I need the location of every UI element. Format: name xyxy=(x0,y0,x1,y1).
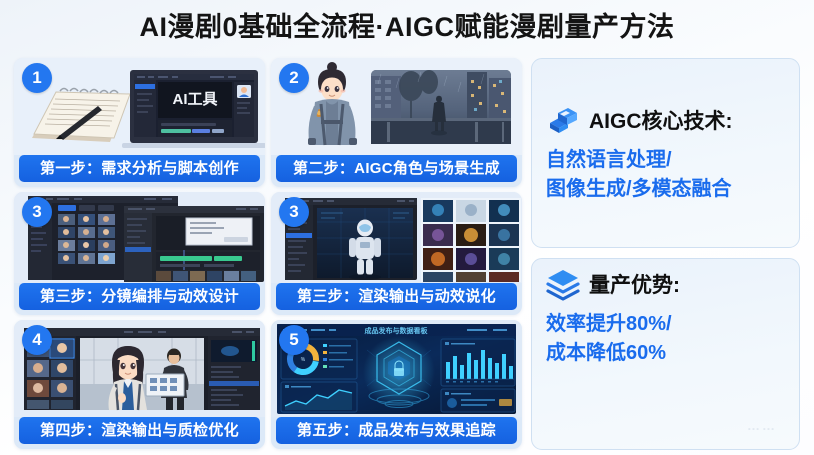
step-caption-3: 第三步：分镜编排与动效设计 xyxy=(19,283,260,310)
analytics-dashboard-illustration: 成品发布与数据看板 % xyxy=(271,320,522,417)
step-badge: 4 xyxy=(22,325,52,355)
step-caption-4: 第三步：渲染输出与动效说化 xyxy=(276,283,517,310)
step-caption-5: 第四步：渲染输出与质检优化 xyxy=(19,417,260,444)
step-badge: 5 xyxy=(279,325,309,355)
panel-line-1: 效率提升80%/ xyxy=(546,310,785,339)
step-card-2[interactable]: 2 第二步：AIGC角色与场景生成 xyxy=(271,58,522,187)
character-preview-illustration xyxy=(14,320,265,417)
step-caption-2: 第二步：AIGC角色与场景生成 xyxy=(276,155,517,182)
card-art-character-scene xyxy=(271,58,522,155)
watermark: …… xyxy=(747,418,777,433)
step-badge: 3 xyxy=(22,197,52,227)
step-card-5[interactable]: 4 第四步：渲染输出与质检优化 xyxy=(14,320,265,449)
info-panels: AIGC核心技术: 自然语言处理/ 图像生成/多模态融合 量产优势: 效率提升8… xyxy=(524,55,814,455)
character-and-scene-illustration xyxy=(271,58,522,155)
storyboard-editor-illustration xyxy=(14,192,265,283)
notebook-laptop-illustration: AI工具 xyxy=(14,58,265,155)
panel-title: AIGC核心技术: xyxy=(589,105,733,135)
info-panel-aigc-core-tech: AIGC核心技术: 自然语言处理/ 图像生成/多模态融合 xyxy=(531,58,800,248)
layers-icon xyxy=(546,267,580,301)
card-art-character-preview xyxy=(14,320,265,417)
content-area: AI工具 xyxy=(0,55,814,455)
panel-header: AIGC核心技术: xyxy=(546,103,785,137)
panel-line-1: 自然语言处理/ xyxy=(546,146,785,175)
step-caption-1: 第一步：需求分析与脚本创作 xyxy=(19,155,260,182)
render-editor-illustration xyxy=(271,192,522,283)
step-cards-grid: AI工具 xyxy=(0,55,524,455)
page-title: AI漫剧0基础全流程·AIGC赋能漫剧量产方法 xyxy=(0,0,814,48)
svg-text:AI工具: AI工具 xyxy=(172,91,217,108)
panel-line-2: 成本降低60% xyxy=(546,339,785,368)
step-badge: 2 xyxy=(279,63,309,93)
panel-header: 量产优势: xyxy=(546,267,785,301)
card-art-render-editor xyxy=(271,192,522,283)
step-card-6[interactable]: 成品发布与数据看板 % xyxy=(271,320,522,449)
step-badge: 3 xyxy=(279,197,309,227)
step-badge: 1 xyxy=(22,63,52,93)
card-art-dashboard: 成品发布与数据看板 % xyxy=(271,320,522,417)
step-card-1[interactable]: AI工具 xyxy=(14,58,265,187)
panel-line-2: 图像生成/多模态融合 xyxy=(546,175,785,204)
step-card-4[interactable]: 3 第三步：渲染输出与动效说化 xyxy=(271,192,522,315)
cube-icon xyxy=(546,103,580,137)
card-art-notebook-laptop: AI工具 xyxy=(14,58,265,155)
svg-text:%: % xyxy=(301,357,306,363)
svg-text:成品发布与数据看板: 成品发布与数据看板 xyxy=(365,326,429,335)
step-caption-6: 第五步：成品发布与效果追踪 xyxy=(276,417,517,444)
panel-title: 量产优势: xyxy=(589,269,680,299)
card-art-storyboard-editor xyxy=(14,192,265,283)
info-panel-mass-production-advantage: 量产优势: 效率提升80%/ 成本降低60% …… xyxy=(531,258,800,450)
step-card-3[interactable]: 3 第三步：分镜编排与动效设计 xyxy=(14,192,265,315)
